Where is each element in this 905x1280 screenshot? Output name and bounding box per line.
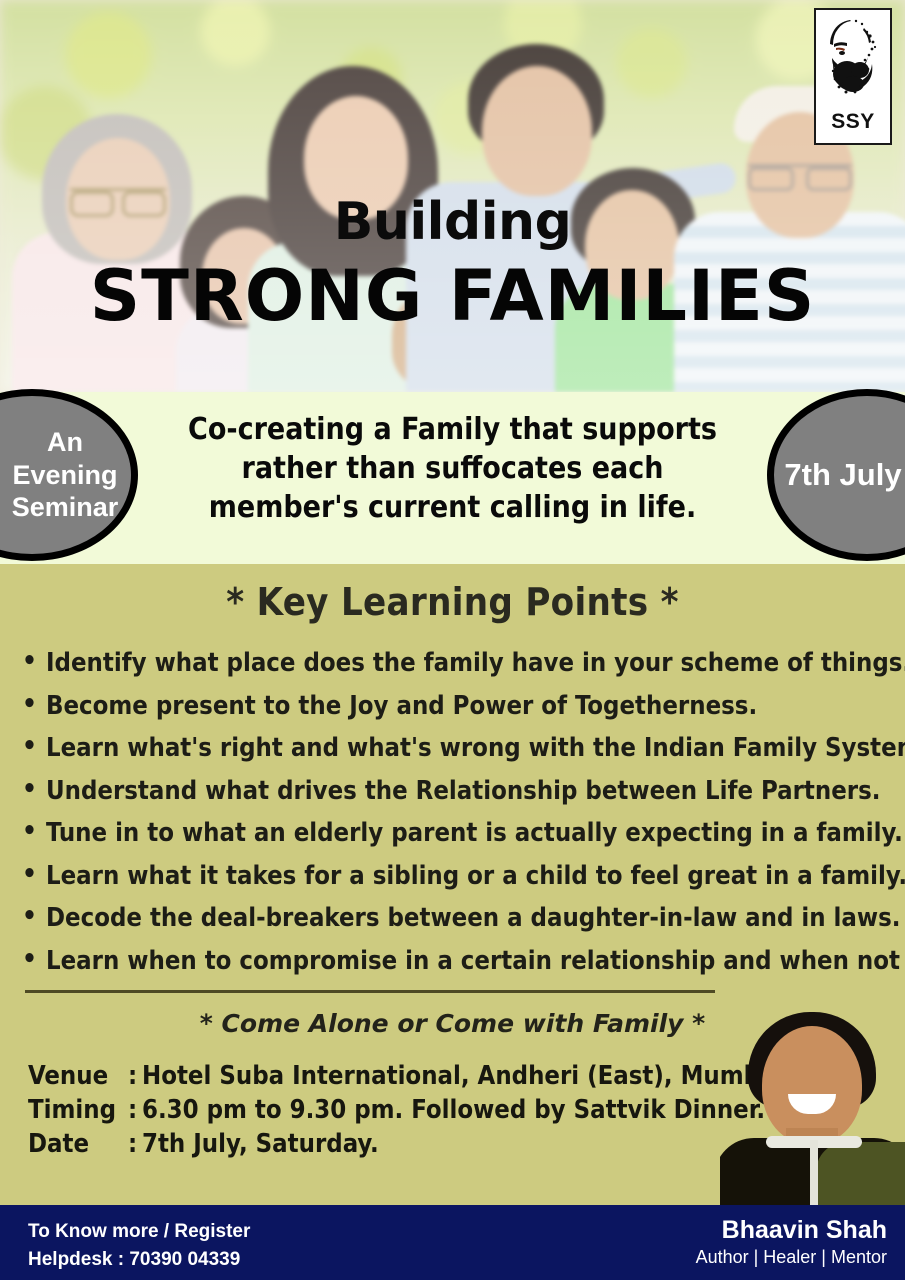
footer-contact-block: To Know more / Register Helpdesk : 70390… (28, 1218, 250, 1273)
detail-separator: : (128, 1060, 142, 1094)
list-item: Become present to the Joy and Power of T… (18, 693, 895, 721)
list-item: Identify what place does the family have… (18, 650, 895, 678)
title-line-1: Building (0, 196, 905, 248)
list-item: Learn when to compromise in a certain re… (18, 948, 895, 976)
speaker-name: Bhaavin Shah (696, 1215, 887, 1245)
list-item: Decode the deal-breakers between a daugh… (18, 905, 895, 933)
list-item: Learn what it takes for a sibling or a c… (18, 863, 895, 891)
footer-helpdesk-line[interactable]: Helpdesk : 70390 04339 (28, 1246, 250, 1274)
section-divider (25, 990, 715, 993)
speaker-roles: Author | Healer | Mentor (696, 1246, 887, 1269)
ssy-logo-text: SSY (831, 111, 875, 132)
tagline-line-1: Co-creating a Family that supports (150, 410, 755, 449)
detail-label: Venue (28, 1060, 128, 1094)
poster-root: Building STRONG FAMILIES (0, 0, 905, 1280)
poster-title-block: Building STRONG FAMILIES (0, 196, 905, 334)
main-content: * Key Learning Points * Identify what pl… (0, 564, 905, 1205)
detail-label: Timing (28, 1094, 128, 1128)
tagline-line-3: member's current calling in life. (150, 488, 755, 527)
detail-label: Date (28, 1128, 128, 1162)
list-item: Learn what's right and what's wrong with… (18, 735, 895, 763)
footer-register-line: To Know more / Register (28, 1218, 250, 1246)
title-line-2: STRONG FAMILIES (0, 260, 905, 334)
ssy-logo: SSY (814, 8, 892, 145)
footer-bar: To Know more / Register Helpdesk : 70390… (0, 1205, 905, 1280)
tagline-line-2: rather than suffocates each (150, 449, 755, 488)
tagline-text: Co-creating a Family that supports rathe… (150, 410, 755, 527)
key-learning-points-heading: * Key Learning Points * (0, 580, 905, 624)
bearded-face-sketch-icon (820, 14, 886, 110)
footer-speaker-block: Bhaavin Shah Author | Healer | Mentor (696, 1215, 887, 1269)
list-item: Tune in to what an elderly parent is act… (18, 820, 895, 848)
key-learning-points-list: Identify what place does the family have… (0, 650, 905, 975)
detail-separator: : (128, 1094, 142, 1128)
detail-separator: : (128, 1128, 142, 1162)
list-item: Understand what drives the Relationship … (18, 778, 895, 806)
speaker-portrait (720, 1010, 905, 1205)
